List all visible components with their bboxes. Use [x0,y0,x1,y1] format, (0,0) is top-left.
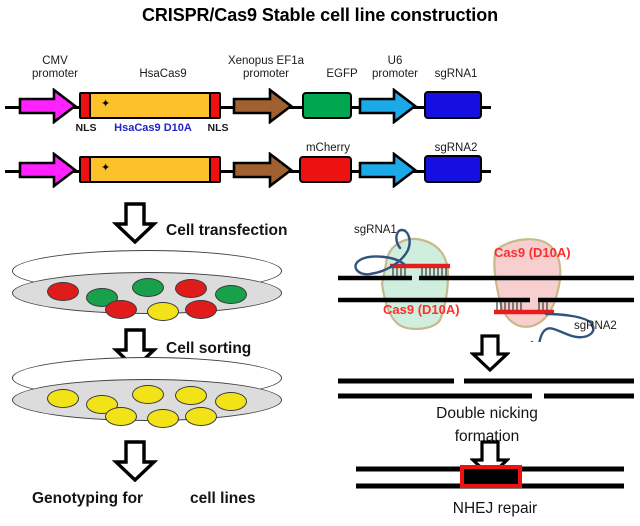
cmv-promoter-arrow-row2 [18,152,78,188]
label-cmv-promoter: CMV promoter [12,55,98,81]
label-sgrna1-complex: sgRNA1 [354,224,397,236]
indel-site-box [462,467,520,486]
repaired-dna-product [336,462,636,496]
cell-colony [47,389,79,408]
petri-dish-sorted [12,357,287,427]
egfp-box-row1 [302,92,352,119]
d10a-mutation-star-row1: ✦ [101,99,110,110]
cell-colony [175,386,207,405]
cell-colony [175,279,207,298]
step-label-cell-transfection: Cell transfection [166,222,287,240]
sublabel-nls-left: NLS [66,122,106,135]
down-arrow-double-nicking [470,334,510,372]
mcherry-box-row2 [299,156,352,183]
label-nhej-repair: NHEJ repair [420,500,570,518]
cell-colony [105,300,137,319]
label-sgrna1: sgRNA1 [420,68,492,81]
cell-colony [185,407,217,426]
cell-colony [215,392,247,411]
nls-right-box-row1 [209,92,221,119]
step-label-cell-sorting: Cell sorting [166,340,251,358]
down-arrow-genotyping [112,440,158,482]
step-label-genotyping: Genotyping for [32,490,143,508]
label-sgrna2: sgRNA2 [420,142,492,155]
label-mcherry: mCherry [290,142,366,155]
ef1a-promoter-arrow-row1 [232,88,294,124]
step-label-cell-lines: cell lines [190,490,255,508]
sgrna1-box-row1 [424,91,482,119]
down-arrow-cell-transfection [112,202,158,244]
sgrna2-box-row2 [424,155,482,183]
sublabel-hsacas9-d10a: HsaCas9 D10A [110,122,196,135]
label-sgrna2-complex: sgRNA2 [574,320,617,332]
cell-colony [185,300,217,319]
nicked-dna-product [336,374,636,404]
u6-promoter-arrow-row2 [358,152,418,188]
d10a-mutation-star-row2: ✦ [101,163,110,174]
cell-colony [47,282,79,301]
cell-colony [105,407,137,426]
u6-promoter-arrow-row1 [358,88,418,124]
figure-canvas: CRISPR/Cas9 Stable cell line constructio… [0,0,640,526]
label-cas9-d10a-right: Cas9 (D10A) [494,245,571,260]
label-hsacas9: HsaCas9 [108,68,218,81]
cmv-promoter-arrow-row1 [18,88,78,124]
cell-colony [147,409,179,428]
petri-dish-transfected [12,250,287,320]
cell-colony [132,278,164,297]
nls-right-box-row2 [209,156,221,183]
cell-colony [147,302,179,321]
cell-colony [132,385,164,404]
label-ef1a-promoter: Xenopus EF1a promoter [212,55,320,81]
figure-title: CRISPR/Cas9 Stable cell line constructio… [0,5,640,26]
cell-colony [215,285,247,304]
ef1a-promoter-arrow-row2 [232,152,294,188]
label-cas9-d10a-left: Cas9 (D10A) [383,302,460,317]
